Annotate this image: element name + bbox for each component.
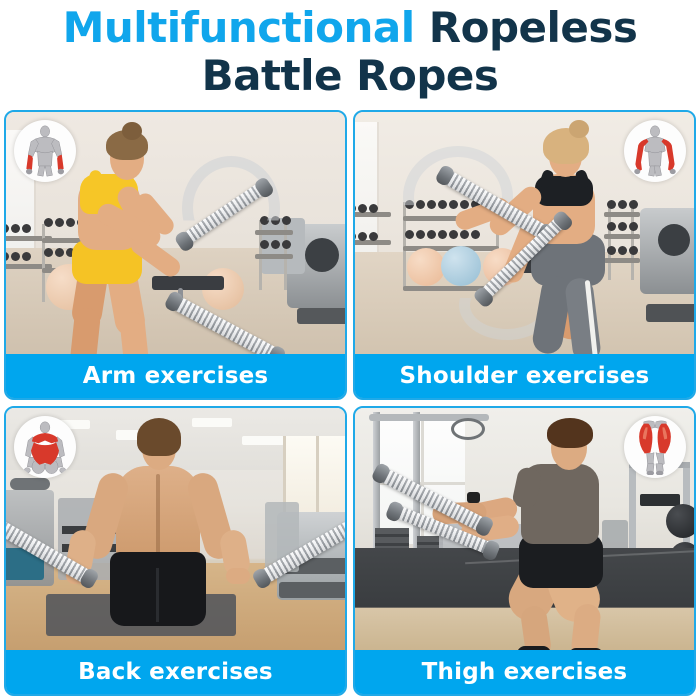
panel-shoulder[interactable]: Shoulder exercises — [353, 110, 696, 400]
product-infographic: Multifunctional Ropeless Battle Ropes — [0, 0, 700, 700]
title-line-1: Multifunctional Ropeless — [0, 4, 700, 52]
caption-bar-back: Back exercises — [6, 650, 345, 694]
panel-arm[interactable]: Arm exercises — [4, 110, 347, 400]
exercise-panel-grid: Arm exercises — [4, 110, 696, 696]
panel-thigh[interactable]: Thigh exercises — [353, 406, 696, 696]
caption-label-back: Back exercises — [78, 659, 273, 685]
shoulder-muscle-badge — [624, 120, 686, 182]
forearm-muscle-badge — [14, 120, 76, 182]
title-line-2: Battle Ropes — [0, 52, 700, 100]
page-title: Multifunctional Ropeless Battle Ropes — [0, 4, 700, 104]
caption-bar-shoulder: Shoulder exercises — [355, 354, 694, 398]
caption-label-shoulder: Shoulder exercises — [400, 363, 650, 389]
title-line-1-rest — [415, 3, 429, 52]
caption-bar-arm: Arm exercises — [6, 354, 345, 398]
caption-label-arm: Arm exercises — [83, 363, 269, 389]
back-muscle-badge — [14, 416, 76, 478]
caption-bar-thigh: Thigh exercises — [355, 650, 694, 694]
panel-back[interactable]: Back exercises — [4, 406, 347, 696]
title-line-1-word-2: Ropeless — [429, 3, 638, 52]
thigh-muscle-badge — [624, 416, 686, 478]
caption-label-thigh: Thigh exercises — [422, 659, 628, 685]
title-highlight-word: Multifunctional — [63, 3, 415, 52]
